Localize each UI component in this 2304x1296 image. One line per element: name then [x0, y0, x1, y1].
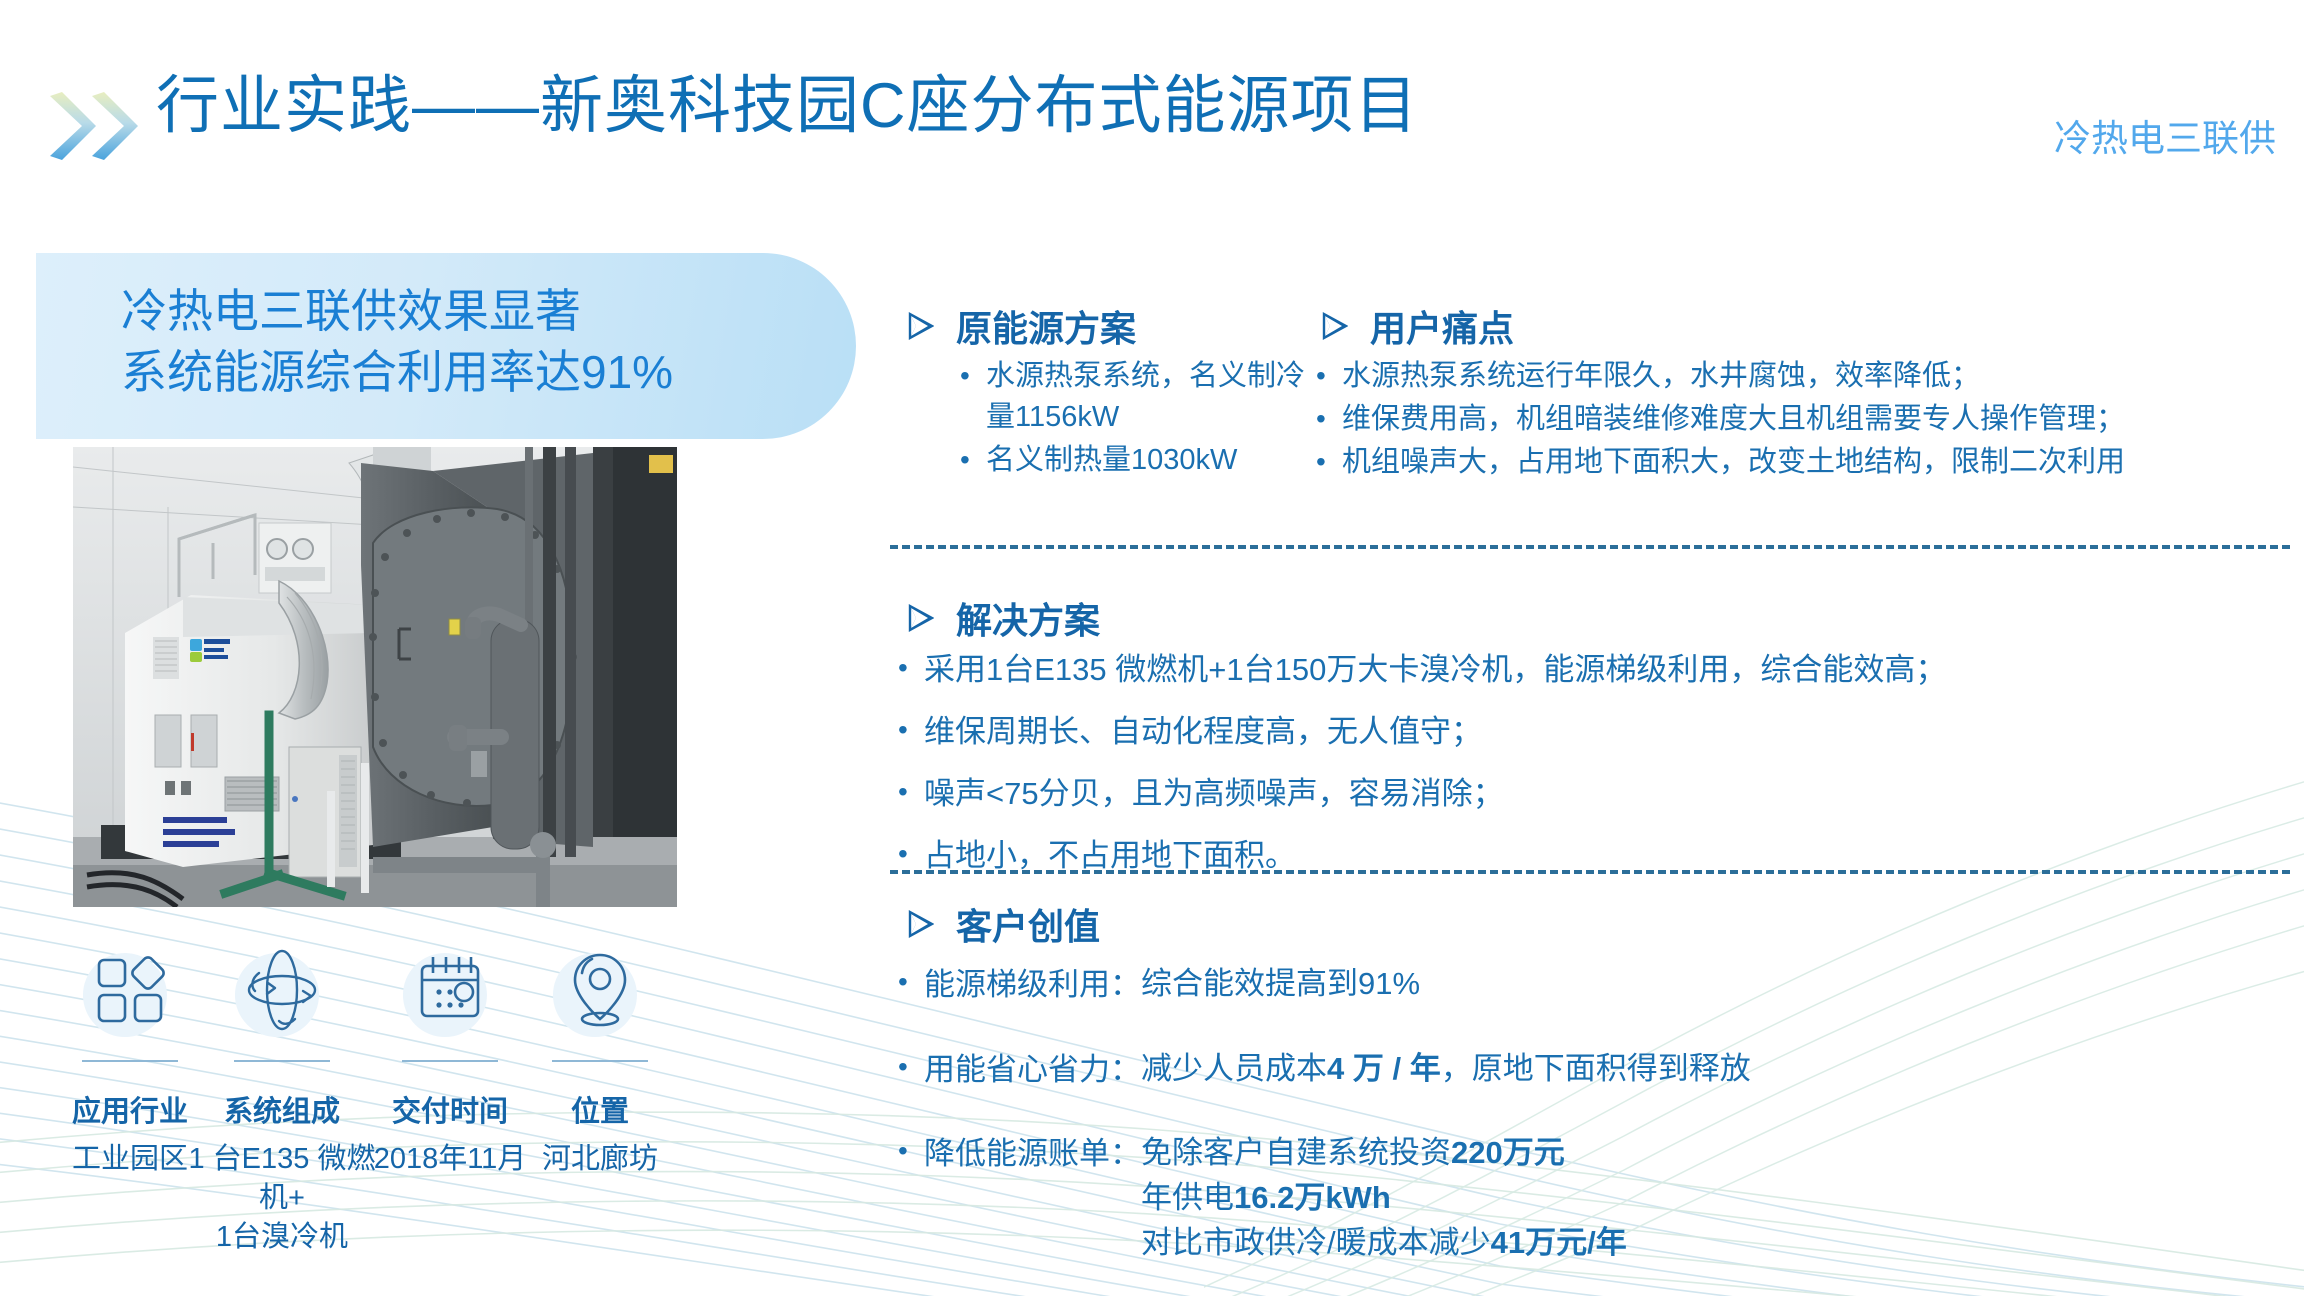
bullet-dot: •	[890, 710, 924, 750]
value-line: 降低能源账单： 免除客户自建系统投资220万元 年供电16.2万kWh 对比市政…	[924, 1131, 1627, 1266]
value-label: 用能省心省力：	[924, 1047, 1141, 1094]
section-heading-text: 原能源方案	[956, 300, 1136, 352]
highlight-text-2: 系统能源综合利用率达91%	[121, 346, 673, 398]
bullet-text: 名义制热量1030kW	[986, 440, 1237, 481]
arrow-bullet-icon	[908, 909, 934, 939]
bullet-dot: •	[890, 1047, 924, 1087]
fact-divider	[82, 1060, 178, 1062]
main-content: 原能源方案 用户痛点 • 水源热泵系统，名义制冷 量1156kW • 名义制热量…	[890, 300, 2290, 1280]
bullet-painpoint-3: • 机组噪声大，占用地下面积大，改变土地结构，限制二次利用	[1308, 442, 2298, 483]
bullet-painpoint-1: • 水源热泵系统运行年限久，水井腐蚀，效率降低；	[1308, 356, 2298, 397]
bullet-dot: •	[890, 648, 924, 688]
bullet-text: 水源热泵系统运行年限久，水井腐蚀，效率降低；	[1342, 356, 1980, 397]
value-text-post: ，原地下面积得到释放	[1441, 1047, 1751, 1092]
bullet-text: 维保周期长、自动化程度高，无人值守；	[924, 710, 1482, 754]
section-heading-solution: 解决方案	[908, 592, 1100, 644]
map-pin-icon	[500, 938, 700, 1042]
bullet-value-2: • 用能省心省力： 减少人员成本4 万 / 年，原地下面积得到释放	[890, 1047, 2290, 1094]
section-heading-value: 客户创值	[908, 898, 1100, 950]
section-heading-text: 客户创值	[956, 898, 1100, 950]
fact-divider	[234, 1060, 330, 1062]
project-site-photo	[73, 447, 677, 907]
highlight-line-2: 系统能源综合利用率达91%	[121, 341, 673, 403]
value-label: 能源梯级利用：	[924, 962, 1141, 1009]
bullet-dot: •	[952, 440, 986, 480]
value-line2-pre: 年供电	[1141, 1180, 1234, 1215]
bullet-original-2: • 名义制热量1030kW	[952, 440, 1322, 481]
bullet-value-1: • 能源梯级利用： 综合能效提高到91%	[890, 962, 2290, 1009]
arrow-bullet-icon	[1322, 311, 1348, 341]
double-chevron-right-icon	[48, 90, 144, 162]
bullet-text: 水源热泵系统，名义制冷 量1156kW	[986, 356, 1305, 438]
section-heading-text: 用户痛点	[1370, 300, 1514, 352]
bullet-dot: •	[1308, 399, 1342, 439]
value-text-pre: 减少人员成本	[1141, 1047, 1327, 1092]
bullet-text: 噪声<75分贝，且为高频噪声，容易消除；	[924, 772, 1504, 816]
highlight-text-1: 冷热电三联供效果显著	[121, 285, 581, 337]
value-text-strong: 4 万 / 年	[1327, 1047, 1441, 1092]
bullet-dot: •	[890, 834, 924, 874]
bullet-text: 采用1台E135 微燃机+1台150万大卡溴冷机，能源梯级利用，综合能效高；	[924, 648, 1946, 692]
value-line3-strong: 41万元/年	[1491, 1225, 1627, 1260]
project-facts-strip: 应用行业 工业园区 系统组成 1 台E135 微燃机+ 1台溴冷机	[30, 938, 870, 1188]
section-heading-painpoints: 用户痛点	[1322, 300, 1514, 352]
fact-label: 位置	[500, 1088, 700, 1130]
bullet-solution-3: • 噪声<75分贝，且为高频噪声，容易消除；	[890, 772, 2290, 816]
section-heading-text: 解决方案	[956, 592, 1100, 644]
bullet-text: 机组噪声大，占用地下面积大，改变土地结构，限制二次利用	[1342, 442, 2125, 483]
fact-divider	[552, 1060, 648, 1062]
section-divider-1	[890, 545, 2290, 549]
arrow-bullet-icon	[908, 311, 934, 341]
value-line2-strong: 16.2万kWh	[1234, 1180, 1391, 1215]
bullet-solution-2: • 维保周期长、自动化程度高，无人值守；	[890, 710, 2290, 754]
highlight-line-1: 冷热电三联供效果显著	[121, 280, 581, 342]
value-label: 降低能源账单：	[924, 1131, 1141, 1178]
fact-value: 河北廊坊	[500, 1140, 700, 1179]
bullet-dot: •	[890, 962, 924, 1002]
bullet-dot: •	[1308, 356, 1342, 396]
bullet-dot: •	[1308, 442, 1342, 482]
value-line3-pre: 对比市政供冷/暖成本减少	[1141, 1225, 1491, 1260]
bullet-solution-1: • 采用1台E135 微燃机+1台150万大卡溴冷机，能源梯级利用，综合能效高；	[890, 648, 2290, 692]
value-line: 能源梯级利用： 综合能效提高到91%	[924, 962, 1420, 1009]
fact-divider	[402, 1060, 498, 1062]
value-text: 综合能效提高到91%	[1141, 962, 1420, 1007]
section-heading-original: 原能源方案	[908, 300, 1136, 352]
slide-root: 行业实践——新奥科技园C座分布式能源项目 冷热电三联供 冷热电三联供效果显著 系…	[0, 0, 2304, 1296]
bullet-dot: •	[890, 1131, 924, 1171]
bullet-dot: •	[890, 772, 924, 812]
value-line1-pre: 免除客户自建系统投资	[1141, 1135, 1451, 1170]
bullet-painpoint-2: • 维保费用高，机组暗装维修难度大且机组需要专人操作管理；	[1308, 399, 2298, 440]
bullet-original-1: • 水源热泵系统，名义制冷 量1156kW	[952, 356, 1322, 438]
section-divider-2	[890, 870, 2290, 874]
page-title: 行业实践——新奥科技园C座分布式能源项目	[156, 72, 1419, 141]
arrow-bullet-icon	[908, 603, 934, 633]
value-line1-strong: 220万元	[1451, 1135, 1565, 1170]
bullet-value-3: • 降低能源账单： 免除客户自建系统投资220万元 年供电16.2万kWh 对比…	[890, 1131, 2290, 1266]
bullet-dot: •	[952, 356, 986, 396]
value-line: 用能省心省力： 减少人员成本4 万 / 年，原地下面积得到释放	[924, 1047, 1751, 1094]
highlight-banner: 冷热电三联供效果显著 系统能源综合利用率达91%	[36, 253, 856, 439]
slide-header: 行业实践——新奥科技园C座分布式能源项目 冷热电三联供	[0, 0, 2304, 190]
header-tag: 冷热电三联供	[2054, 108, 2276, 162]
bullet-text: 维保费用高，机组暗装维修难度大且机组需要专人操作管理；	[1342, 399, 2125, 440]
fact-location: 位置 河北廊坊	[500, 938, 700, 1179]
